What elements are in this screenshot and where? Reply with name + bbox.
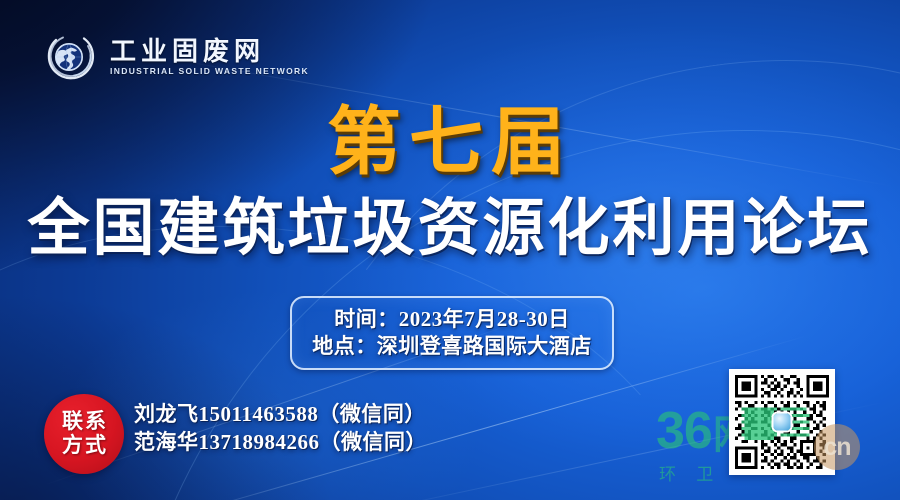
- qr-code-icon[interactable]: [729, 369, 835, 475]
- logo-english-text: INDUSTRIAL SOLID WASTE NETWORK: [110, 66, 309, 76]
- event-date: 时间：2023年7月28-30日: [334, 307, 570, 332]
- contact-list: 刘龙飞15011463588（微信同） 范海华13718984266（微信同）: [134, 402, 427, 455]
- app-logo-icon: [774, 414, 791, 431]
- logo-chinese-text: 工业固废网: [110, 38, 309, 65]
- contact-badge-line-1: 联系: [60, 410, 108, 434]
- event-venue: 地点：深圳登喜路国际大酒店: [312, 334, 592, 359]
- forum-title: 全国建筑垃圾资源化利用论坛: [0, 196, 900, 263]
- edition-title: 第七届: [0, 106, 900, 180]
- contact-badge: 联系 方式: [44, 394, 124, 474]
- poster-canvas: 工业固废网 INDUSTRIAL SOLID WASTE NETWORK 第七届…: [0, 0, 900, 500]
- site-logo[interactable]: 工业固废网 INDUSTRIAL SOLID WASTE NETWORK: [44, 30, 309, 84]
- globe-icon: [44, 30, 98, 84]
- event-info-box: 时间：2023年7月28-30日 地点：深圳登喜路国际大酒店: [290, 296, 614, 370]
- contact-person-1: 刘龙飞15011463588（微信同）: [134, 402, 427, 427]
- contact-person-2: 范海华13718984266（微信同）: [134, 430, 427, 455]
- contact-badge-line-2: 方式: [60, 434, 108, 458]
